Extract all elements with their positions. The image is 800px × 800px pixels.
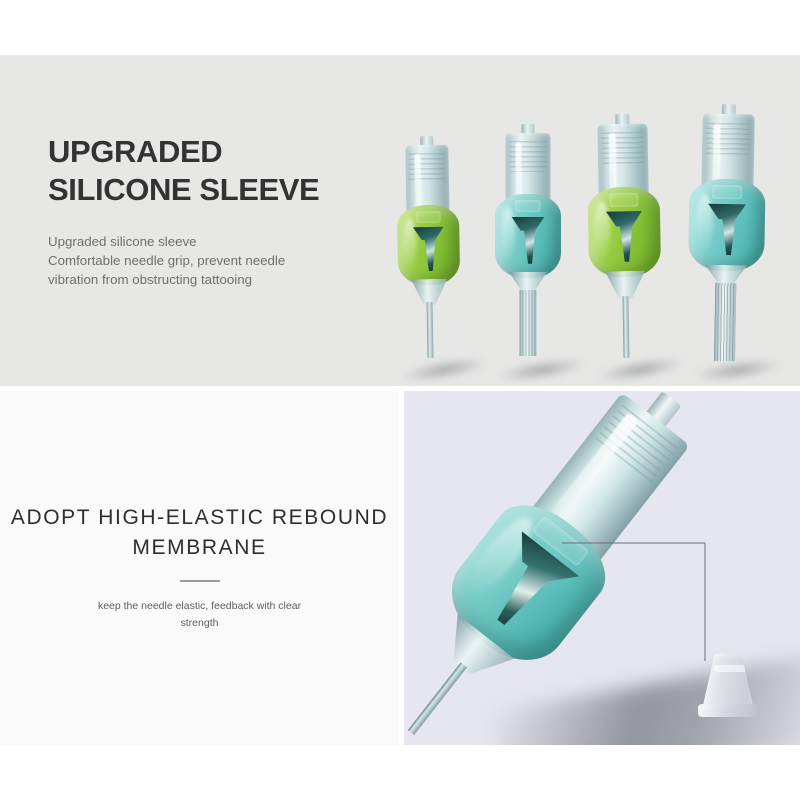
top-heading-line1: UPGRADED [48,134,222,169]
cartridge-cone [509,272,547,292]
cartridge-logo [609,193,638,207]
top-heading: UPGRADED SILICONE SLEEVE [48,133,368,209]
top-text-block: UPGRADED SILICONE SLEEVE Upgraded silico… [48,133,368,289]
top-heading-line2: SILICONE SLEEVE [48,171,368,209]
product-marketing-image: UPGRADED SILICONE SLEEVE Upgraded silico… [0,0,800,800]
tattoo-cartridge-green-liner [379,133,479,386]
cartridge-grip [688,178,766,271]
bottom-heading-line2: MEMBRANE [0,533,399,563]
top-body-line2: Comfortable needle grip, prevent needle [48,251,368,270]
cartridge-magnum-tip [714,283,736,361]
cartridge-grip [397,204,460,285]
heading-divider [180,580,220,582]
cartridge-arrow-window-icon [707,204,746,256]
bottom-heading: ADOPT HIGH-ELASTIC REBOUND MEMBRANE [0,503,399,564]
top-body-line1: Upgraded silicone sleeve [48,232,368,251]
top-body-text: Upgraded silicone sleeve Comfortable nee… [48,232,368,289]
cartridge-logo [416,210,441,222]
cartridge-arrow-window-icon [413,226,445,271]
tattoo-cartridge-teal-magnum [478,124,578,386]
section-upgraded-silicone-sleeve: UPGRADED SILICONE SLEEVE Upgraded silico… [0,55,800,386]
tattoo-cartridge-teal-magnum-2 [668,103,785,386]
bottom-sub-line1: keep the needle elastic, feedback with c… [70,598,329,615]
cartridge-grip [495,194,561,278]
cartridge-shadow [400,352,488,386]
cartridge-logo [515,200,541,213]
bottom-sub-text: keep the needle elastic, feedback with c… [0,598,399,632]
cartridge-arrow-window-icon [512,217,545,264]
bottom-left-text-block: ADOPT HIGH-ELASTIC REBOUND MEMBRANE keep… [0,503,399,631]
membrane-body [702,654,754,710]
cartridge-shadow [694,354,782,386]
bottom-sub-line2: strength [70,615,329,632]
top-body-line3: vibration from obstructing tattooing [48,270,368,289]
cartridge-arrow-window-icon [606,211,643,262]
cartridge-logo [712,185,743,199]
rebound-membrane-cone [697,646,759,718]
cartridge-round-liner-tip [427,302,434,358]
cartridge-grip [588,186,662,277]
section-rebound-membrane-text: ADOPT HIGH-ELASTIC REBOUND MEMBRANE keep… [0,391,399,745]
cartridge-magnum-tip [520,290,537,356]
membrane-top-ring [714,665,752,672]
tattoo-cartridge-green-liner-2 [568,113,681,386]
section-rebound-membrane-image [404,391,800,745]
cartridge-group [365,55,800,386]
bottom-heading-line1: ADOPT HIGH-ELASTIC REBOUND [11,506,388,529]
membrane-base-lip [698,704,758,717]
cartridge-round-liner-tip [622,296,629,358]
cartridge-needle-tip [408,662,467,735]
